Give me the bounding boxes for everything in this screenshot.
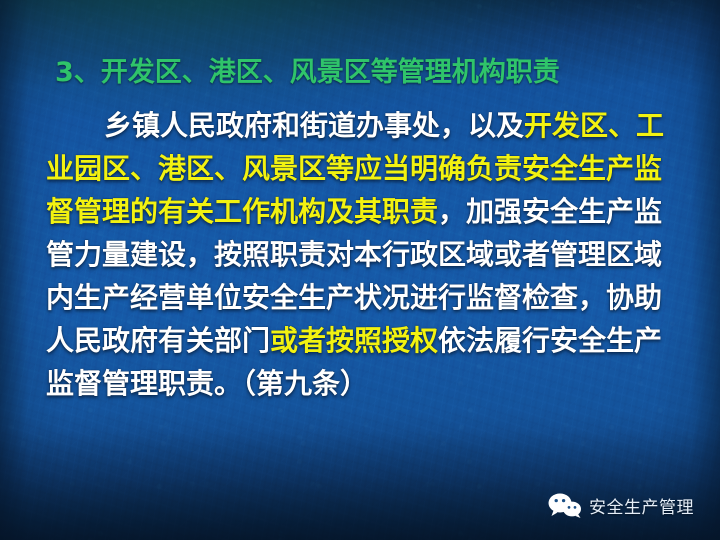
highlighted-text: 业园区、港区、风景区等应当明确负责安全生产监 <box>46 152 662 185</box>
wechat-icon <box>548 492 582 518</box>
slide-title: 3、开发区、港区、风景区等管理机构职责 <box>55 50 560 89</box>
body-text: ，加强安全生产监 <box>438 195 662 228</box>
highlighted-text: 或者按照授权 <box>270 324 438 357</box>
slide-body-text: 乡镇人民政府和街道办事处，以及开发区、工业园区、港区、风景区等应当明确负责安全生… <box>46 104 678 405</box>
watermark: 安全生产管理 <box>548 492 694 518</box>
body-line: 监督管理职责。（第九条） <box>46 362 678 405</box>
watermark-label: 安全生产管理 <box>589 493 694 518</box>
body-line: 人民政府有关部门或者按照授权依法履行安全生产 <box>46 319 678 362</box>
body-text: 内生产经营单位安全生产状况进行监督检查，协助 <box>46 281 662 314</box>
body-text: 监督管理职责。（第九条） <box>46 367 368 400</box>
body-line: 乡镇人民政府和街道办事处，以及开发区、工 <box>46 104 678 147</box>
presentation-slide: 3、开发区、港区、风景区等管理机构职责 乡镇人民政府和街道办事处，以及开发区、工… <box>0 0 720 540</box>
body-text: 管力量建设，按照职责对本行政区域或者管理区域 <box>46 238 662 271</box>
body-text: 人民政府有关部门 <box>46 324 270 357</box>
highlighted-text: 开发区、工 <box>524 109 664 142</box>
body-text: 依法履行安全生产 <box>438 324 662 357</box>
body-line: 业园区、港区、风景区等应当明确负责安全生产监 <box>46 147 678 190</box>
highlighted-text: 督管理的有关工作机构及其职责 <box>46 195 438 228</box>
body-line: 督管理的有关工作机构及其职责，加强安全生产监 <box>46 190 678 233</box>
body-line: 内生产经营单位安全生产状况进行监督检查，协助 <box>46 276 678 319</box>
body-text: 乡镇人民政府和街道办事处，以及 <box>104 109 524 142</box>
body-line: 管力量建设，按照职责对本行政区域或者管理区域 <box>46 233 678 276</box>
slide-content: 3、开发区、港区、风景区等管理机构职责 乡镇人民政府和街道办事处，以及开发区、工… <box>0 0 720 540</box>
